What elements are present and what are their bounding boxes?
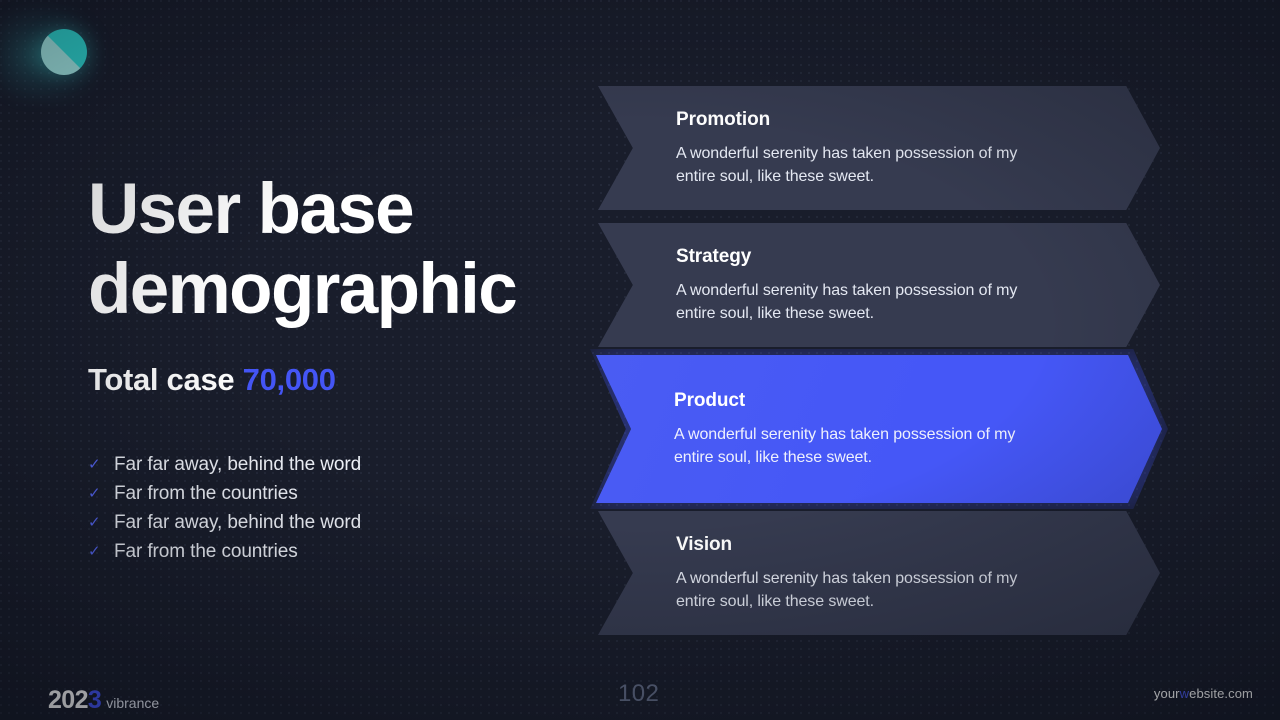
- arrow-card-promotion[interactable]: PromotionA wonderful serenity has taken …: [598, 86, 1160, 210]
- arrow-card-product[interactable]: ProductA wonderful serenity has taken po…: [596, 355, 1162, 503]
- arrow-card-strategy[interactable]: StrategyA wonderful serenity has taken p…: [598, 223, 1160, 347]
- site-post: ebsite.com: [1189, 686, 1253, 701]
- brand-year-accent: 3: [88, 686, 101, 714]
- card-description: A wonderful serenity has taken possessio…: [676, 142, 1036, 188]
- arrow-card-vision[interactable]: VisionA wonderful serenity has taken pos…: [598, 511, 1160, 635]
- brand-name: vibrance: [106, 695, 159, 711]
- card-description: A wonderful serenity has taken possessio…: [676, 567, 1036, 613]
- card-description: A wonderful serenity has taken possessio…: [674, 423, 1034, 469]
- card-title: Promotion: [676, 109, 1160, 131]
- card-title: Product: [674, 390, 1162, 412]
- footer-brand: 2023 vibrance: [48, 686, 159, 715]
- brand-year: 2023: [48, 686, 101, 715]
- card-title: Strategy: [676, 246, 1160, 268]
- slide-canvas: User base demographic Total case 70,000 …: [0, 0, 1280, 720]
- arrow-card-stack: PromotionA wonderful serenity has taken …: [0, 0, 1280, 720]
- site-accent-letter: w: [1180, 686, 1190, 701]
- site-pre: your: [1154, 686, 1180, 701]
- footer-website[interactable]: yourwebsite.com: [1154, 686, 1253, 701]
- page-number: 102: [618, 680, 659, 708]
- card-title: Vision: [676, 534, 1160, 556]
- card-description: A wonderful serenity has taken possessio…: [676, 279, 1036, 325]
